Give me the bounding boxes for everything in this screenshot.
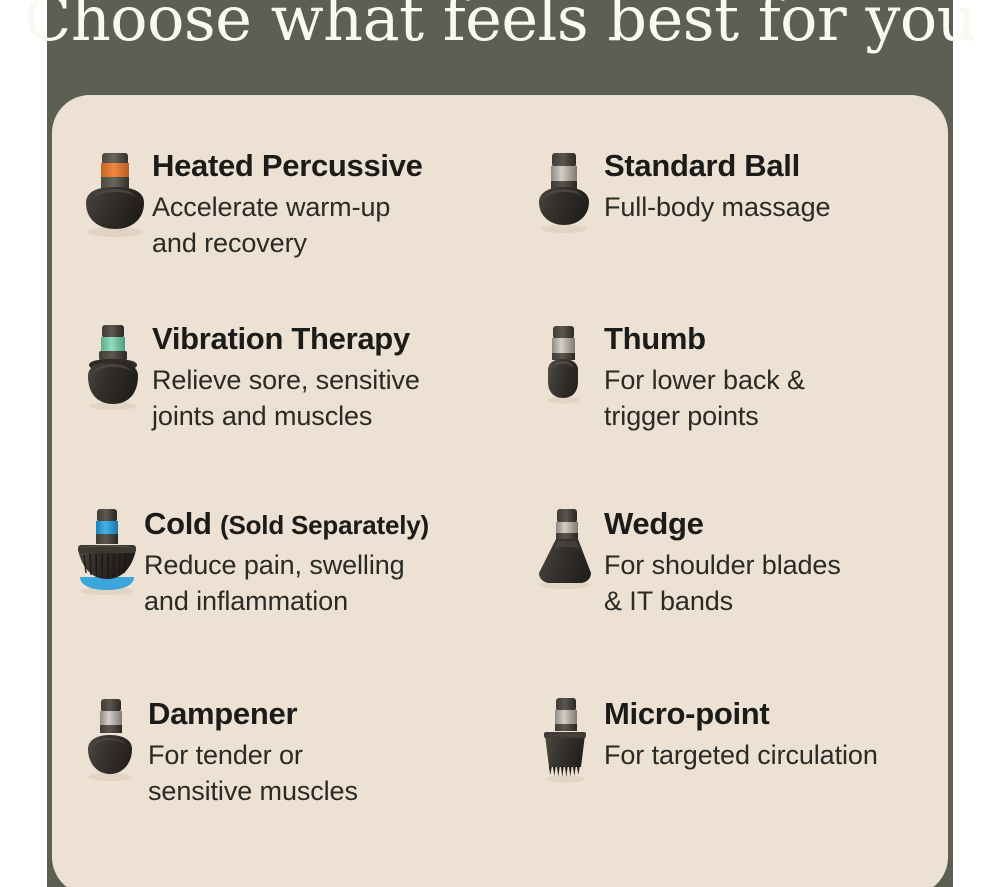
attachment-text-block: Standard Ball Full-body massage [604,147,940,226]
attachment-title: Cold (Sold Separately) [144,507,520,542]
attachment-description: For lower back & trigger points [604,363,940,435]
attachment-text-block: Wedge For shoulder blades & IT bands [604,505,940,620]
attachment-description: Relieve sore, sensitive joints and muscl… [152,363,508,435]
attachment-item-standard-ball[interactable]: Standard Ball Full-body massage [530,147,940,247]
attachment-title: Heated Percussive [152,149,498,184]
attachment-description: Full-body massage [604,190,940,226]
attachment-text-block: Cold (Sold Separately) Reduce pain, swel… [144,505,520,620]
attachment-description: For tender or sensitive muscles [148,738,494,810]
attachment-title: Micro-point [604,697,950,732]
desc-line: and recovery [152,226,498,262]
attachment-title-suffix: (Sold Separately) [220,510,429,540]
thumb-attachment-icon [530,320,604,420]
attachment-item-heated-percussive[interactable]: Heated Percussive Accelerate warm-up and… [78,147,498,262]
promo-graphic: Choose what feels best for you [0,0,1000,887]
desc-line: and inflammation [144,584,520,620]
desc-line: & IT bands [604,584,940,620]
desc-line: joints and muscles [152,399,508,435]
desc-line: Accelerate warm-up [152,190,498,226]
attachment-grid: Heated Percussive Accelerate warm-up and… [52,95,948,887]
heated-percussive-attachment-icon [78,147,152,247]
page-title: Choose what feels best for you [0,0,1000,50]
vibration-therapy-attachment-icon [78,320,152,420]
attachment-item-cold[interactable]: Cold (Sold Separately) Reduce pain, swel… [70,505,520,620]
desc-line: For tender or [148,738,494,774]
desc-line: trigger points [604,399,940,435]
attachment-title-main: Cold [144,506,212,541]
cold-attachment-icon [70,505,144,605]
attachment-item-thumb[interactable]: Thumb For lower back & trigger points [530,320,940,435]
desc-line: Reduce pain, swelling [144,548,520,584]
attachment-title: Dampener [148,697,494,732]
attachment-text-block: Heated Percussive Accelerate warm-up and… [152,147,498,262]
attachment-text-block: Thumb For lower back & trigger points [604,320,940,435]
desc-line: For targeted circulation [604,738,950,774]
attachment-description: Accelerate warm-up and recovery [152,190,498,262]
desc-line: Relieve sore, sensitive [152,363,508,399]
attachment-title: Wedge [604,507,940,542]
desc-line: Full-body massage [604,190,940,226]
desc-line: For lower back & [604,363,940,399]
attachment-description: For targeted circulation [604,738,950,774]
attachment-description: Reduce pain, swelling and inflammation [144,548,520,620]
standard-ball-attachment-icon [530,147,604,247]
wedge-attachment-icon [530,505,604,605]
attachment-title: Standard Ball [604,149,940,184]
desc-line: sensitive muscles [148,774,494,810]
attachment-item-micro-point[interactable]: Micro-point For targeted circulation [530,695,950,795]
micro-point-attachment-icon [530,695,604,795]
attachment-description: For shoulder blades & IT bands [604,548,940,620]
attachment-text-block: Dampener For tender or sensitive muscles [148,695,494,810]
attachment-item-dampener[interactable]: Dampener For tender or sensitive muscles [74,695,494,810]
attachment-text-block: Vibration Therapy Relieve sore, sensitiv… [152,320,508,435]
dampener-attachment-icon [74,695,148,795]
attachment-item-vibration-therapy[interactable]: Vibration Therapy Relieve sore, sensitiv… [78,320,508,435]
attachment-item-wedge[interactable]: Wedge For shoulder blades & IT bands [530,505,940,620]
attachment-text-block: Micro-point For targeted circulation [604,695,950,774]
attachment-title: Vibration Therapy [152,322,508,357]
desc-line: For shoulder blades [604,548,940,584]
attachment-title: Thumb [604,322,940,357]
